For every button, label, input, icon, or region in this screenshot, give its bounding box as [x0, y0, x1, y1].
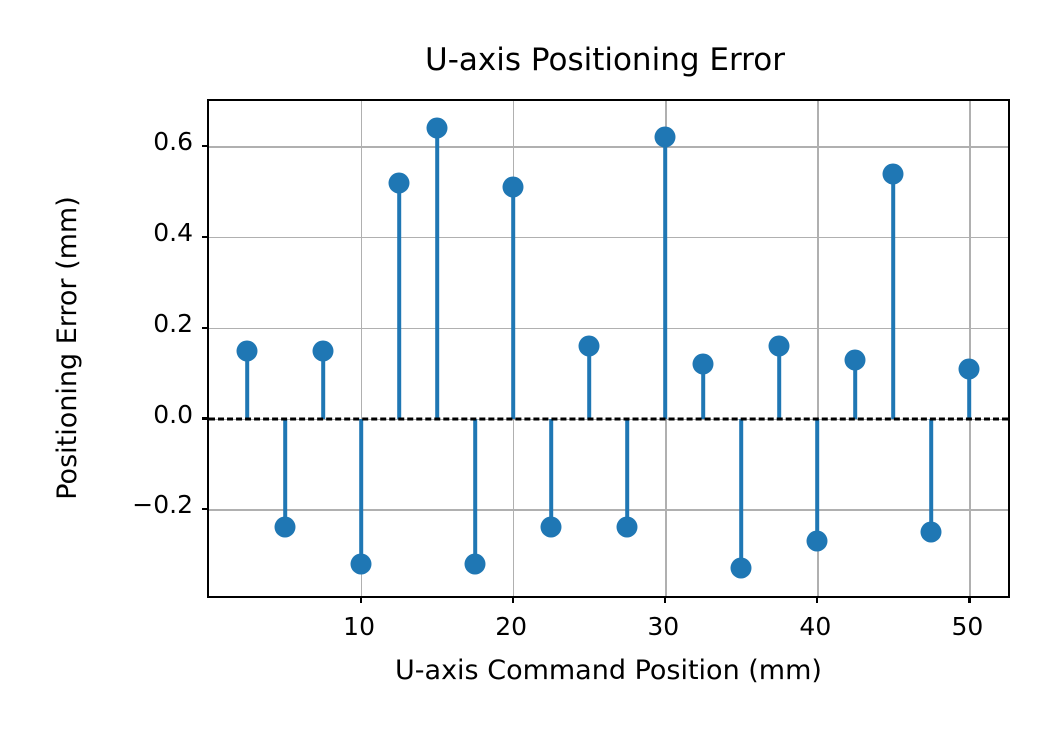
y-tick-label-0: −0.2 — [0, 490, 193, 519]
x-tick-2 — [664, 596, 666, 603]
chart-figure: U-axis Positioning Error −0.20.00.20.40.… — [0, 0, 1050, 750]
data-point-marker — [275, 517, 296, 538]
stem-line — [511, 187, 515, 418]
data-point-marker — [237, 340, 258, 361]
y-tick-0 — [202, 508, 209, 510]
stem-line — [625, 419, 629, 528]
data-point-marker — [389, 172, 410, 193]
stem-line — [587, 346, 591, 419]
stem-line — [473, 419, 477, 564]
data-point-marker — [313, 340, 334, 361]
y-tick-4 — [202, 145, 209, 147]
zero-baseline — [209, 417, 1008, 420]
stem-line — [435, 128, 439, 418]
y-axis-label: Positioning Error (mm) — [52, 196, 83, 500]
gridline-x-4 — [969, 101, 970, 596]
x-tick-1 — [512, 596, 514, 603]
y-tick-1 — [202, 417, 209, 419]
x-tick-0 — [360, 596, 362, 603]
y-tick-label-4: 0.6 — [0, 127, 193, 156]
data-point-marker — [959, 358, 980, 379]
x-tick-label-2: 30 — [613, 612, 713, 641]
stem-line — [359, 419, 363, 564]
stem-line — [892, 174, 896, 419]
stem-line — [397, 183, 401, 419]
plot-clip — [209, 101, 1008, 596]
data-point-marker — [351, 553, 372, 574]
x-tick-label-3: 40 — [765, 612, 865, 641]
plot-area — [207, 99, 1010, 598]
stem-line — [816, 419, 820, 541]
x-tick-label-4: 50 — [917, 612, 1017, 641]
y-tick-2 — [202, 327, 209, 329]
data-point-marker — [731, 558, 752, 579]
data-point-marker — [693, 354, 714, 375]
gridline-y-0 — [209, 509, 1008, 510]
stem-line — [778, 346, 782, 419]
data-point-marker — [921, 521, 942, 542]
data-point-marker — [503, 177, 524, 198]
data-point-marker — [655, 127, 676, 148]
data-point-marker — [427, 118, 448, 139]
y-tick-3 — [202, 236, 209, 238]
chart-title-text: U-axis Positioning Error — [425, 42, 785, 78]
data-point-marker — [769, 335, 790, 356]
data-point-marker — [579, 335, 600, 356]
data-point-marker — [807, 531, 828, 552]
data-point-marker — [883, 163, 904, 184]
stem-line — [663, 137, 667, 418]
stem-line — [549, 419, 553, 528]
y-tick-label-3: 0.4 — [0, 218, 193, 247]
data-point-marker — [541, 517, 562, 538]
x-tick-label-1: 20 — [461, 612, 561, 641]
stem-line — [739, 419, 743, 569]
gridline-y-2 — [209, 328, 1008, 329]
stem-line — [930, 419, 934, 532]
x-tick-label-0: 10 — [309, 612, 409, 641]
x-tick-3 — [816, 596, 818, 603]
gridline-y-4 — [209, 146, 1008, 147]
y-tick-label-1: 0.0 — [0, 400, 193, 429]
gridline-y-3 — [209, 237, 1008, 238]
x-tick-4 — [968, 596, 970, 603]
y-tick-label-2: 0.2 — [0, 309, 193, 338]
data-point-marker — [465, 553, 486, 574]
x-axis-label: U-axis Command Position (mm) — [207, 655, 1010, 686]
data-point-marker — [845, 349, 866, 370]
stem-line — [283, 419, 287, 528]
data-point-marker — [617, 517, 638, 538]
chart-title: U-axis Positioning Error — [0, 42, 1050, 78]
